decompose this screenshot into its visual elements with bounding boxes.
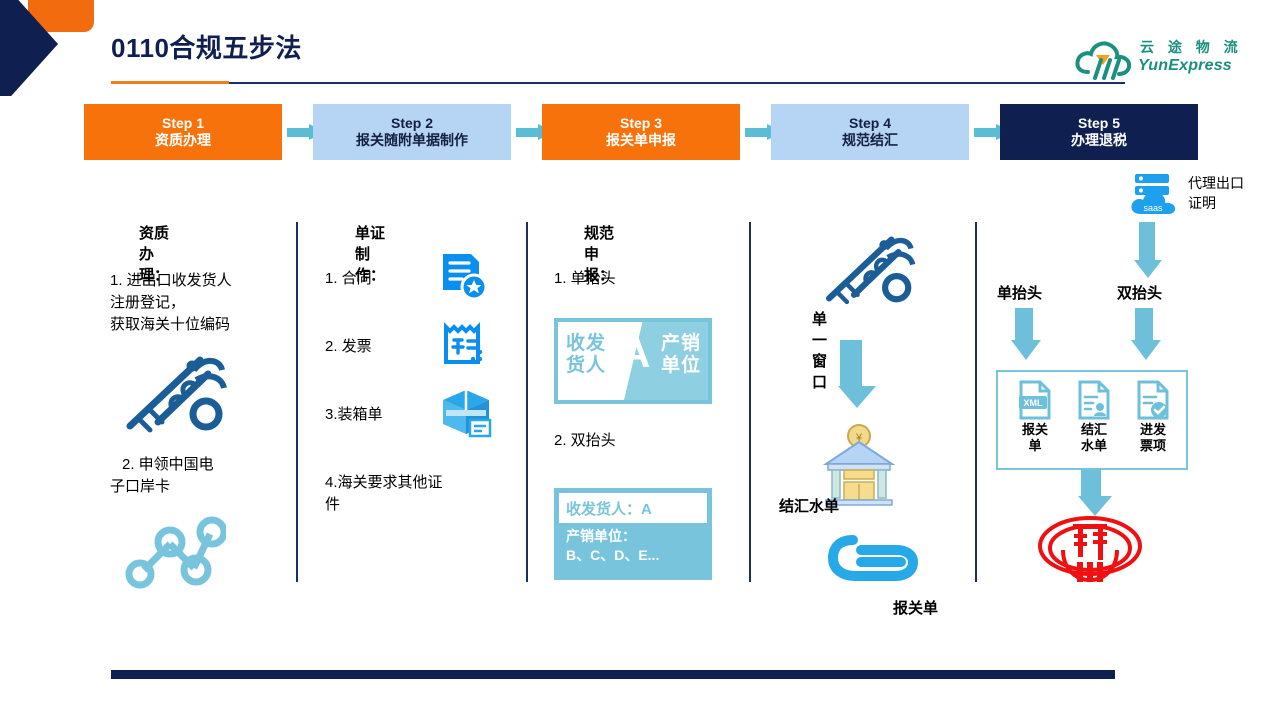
customs-emblem-icon: [122, 350, 230, 436]
col3-item1: 1. 单抬头: [554, 268, 616, 291]
col5-saas-label-line2: 证明: [1188, 195, 1216, 211]
step-5-cn: 办理退税: [1071, 132, 1127, 150]
col5-double-header-label: 双抬头: [1117, 282, 1162, 303]
brand-logo: 云 途 物 流 YunExpress: [1074, 36, 1254, 84]
step-4-cn: 规范结汇: [842, 132, 898, 150]
double-header-row2-label: 产销单位：: [566, 528, 636, 544]
col4-down-arrow: [838, 340, 864, 408]
col5-doc-1-cap2: 单: [1028, 438, 1041, 453]
tax-bureau-emblem-icon: [1033, 510, 1147, 586]
double-header-diagram: 收发货人：A 产销单位： B、C、D、E...: [554, 488, 712, 580]
step-3[interactable]: Step 3 报关单申报: [542, 104, 740, 160]
invoice-receipt-icon: [437, 320, 491, 374]
col5-doc-3-cap1: 进发: [1140, 422, 1166, 437]
col1-item1-line1: 1. 进出口收发货人: [110, 270, 232, 293]
customs-emblem-icon: [822, 230, 918, 308]
single-header-consignee-label: 收发货人: [566, 333, 606, 377]
step-5-en: Step 5: [1078, 115, 1120, 133]
title-rule-navy: [111, 82, 1125, 84]
col5-document-box: XML 报关 单 结汇 水单: [996, 370, 1188, 470]
double-header-row2: 产销单位： B、C、D、E...: [559, 523, 707, 575]
page-title: 0110合规五步法: [111, 28, 302, 65]
col4-single-window-label: 单一窗口: [812, 308, 827, 392]
title-rule-orange: [111, 81, 229, 84]
col5-left-down-arrow: [1011, 308, 1037, 360]
step-1[interactable]: Step 1 资质办理: [84, 104, 282, 160]
col5-doc-3-cap2: 票项: [1140, 438, 1166, 453]
col5-single-header-label: 单抬头: [997, 282, 1042, 303]
col4-declaration-label: 报关单: [893, 597, 938, 618]
double-header-row1: 收发货人：A: [559, 493, 707, 523]
col2-item3: 3.装箱单: [325, 404, 383, 427]
step-2-en: Step 2: [391, 115, 433, 133]
slide-canvas: 0110合规五步法 云 途 物 流 YunExpress Step 1 资质办理…: [0, 0, 1268, 710]
footer-bar: [111, 670, 1115, 679]
step-2[interactable]: Step 2 报关随附单据制作: [313, 104, 511, 160]
step-1-en: Step 1: [162, 115, 204, 133]
column-divider-4: [975, 222, 977, 582]
col5-right-down-arrow: [1131, 308, 1157, 360]
single-header-diagram: 收发货人 A 产销单位: [554, 318, 712, 404]
single-header-producer-label: 产销单位: [661, 333, 701, 377]
col5-saas-down-arrow: [1134, 222, 1160, 278]
col5-doc-1-cap1: 报关: [1022, 422, 1048, 437]
step-2-cn: 报关随附单据制作: [356, 132, 468, 150]
step-4[interactable]: Step 4 规范结汇: [771, 104, 969, 160]
column-divider-2: [526, 222, 528, 582]
packing-box-icon: [437, 384, 495, 442]
network-nodes-icon: [122, 514, 226, 590]
logo-text-cn: 云 途 物 流: [1140, 37, 1243, 57]
column-divider-3: [749, 222, 751, 582]
col1-item2-line1: 2. 申领中国电: [122, 454, 214, 477]
col5-saas-label: 代理出口 证明: [1188, 174, 1244, 213]
col3-item2: 2. 双抬头: [554, 430, 616, 453]
step-4-en: Step 4: [849, 115, 891, 133]
col5-doc-3-caption: 进发 票项: [1122, 422, 1184, 455]
single-header-letter: A: [620, 332, 650, 374]
step-5[interactable]: Step 5 办理退税: [1000, 104, 1198, 160]
step-3-en: Step 3: [620, 115, 662, 133]
svg-text:XML: XML: [1024, 398, 1044, 408]
col5-doc-1: XML 报关 单: [1004, 380, 1066, 455]
col1-item2-line2: 子口岸卡: [110, 476, 170, 499]
col1-item1-line2: 注册登记，: [110, 292, 185, 315]
col5-doc-2: 结汇 水单: [1063, 380, 1125, 455]
step-1-cn: 资质办理: [155, 132, 211, 150]
svg-text:saas: saas: [1143, 203, 1163, 213]
settlement-slip-icon: [1075, 380, 1113, 420]
verified-invoice-icon: [1134, 380, 1172, 420]
cloud-logo-icon: [1074, 36, 1136, 80]
col4-settlement-slip-label: 结汇水单: [779, 495, 839, 516]
col2-item2: 2. 发票: [325, 336, 372, 359]
col5-doc-1-caption: 报关 单: [1004, 422, 1066, 455]
col1-item1-line3: 获取海关十位编码: [110, 314, 230, 337]
col5-doc-2-cap1: 结汇: [1081, 422, 1107, 437]
col2-item4-line2: 件: [325, 494, 340, 517]
saas-cloud-server-icon: saas: [1127, 172, 1179, 218]
logo-text-en: YunExpress: [1138, 57, 1232, 75]
contract-document-icon: [435, 250, 489, 304]
col2-item4-line1: 4.海关要求其他证: [325, 472, 443, 495]
col5-saas-label-line1: 代理出口: [1188, 175, 1244, 191]
col2-item1: 1. 合同: [325, 268, 372, 291]
paperclip-icon: [817, 518, 927, 596]
step-3-cn: 报关单申报: [606, 132, 676, 150]
double-header-row2-values: B、C、D、E...: [566, 547, 659, 563]
column-divider-1: [296, 222, 298, 582]
col5-doc-2-cap2: 水单: [1081, 438, 1107, 453]
col5-doc-2-caption: 结汇 水单: [1063, 422, 1125, 455]
step-flow-bar: Step 1 资质办理 Step 2 报关随附单据制作 Step 3 报关单申报…: [84, 104, 1190, 160]
col5-doc-3: 进发 票项: [1122, 380, 1184, 455]
xml-file-icon: XML: [1016, 380, 1054, 420]
